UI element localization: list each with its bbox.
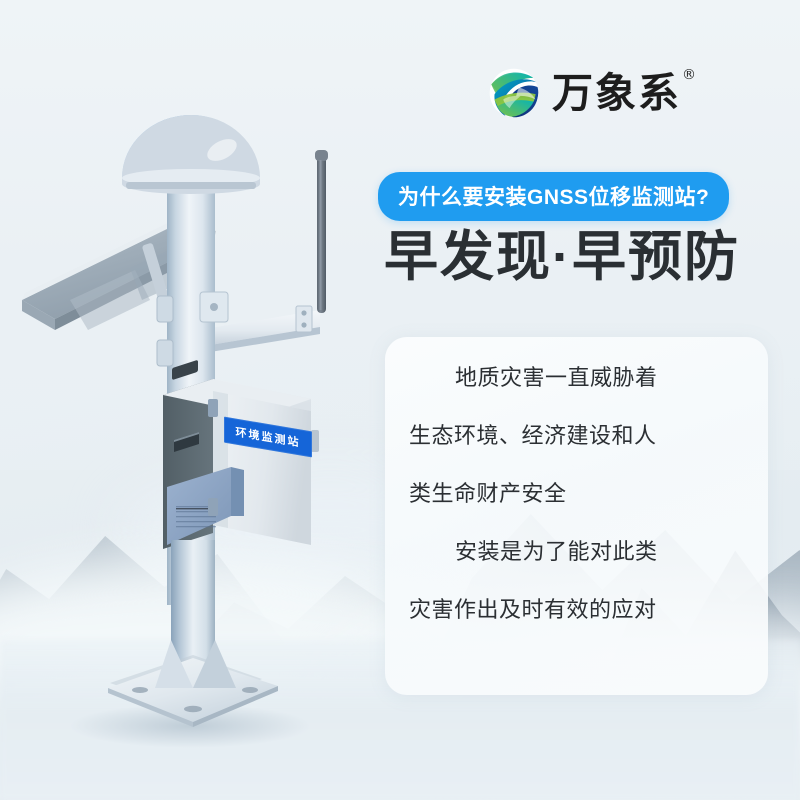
gnss-antenna-dome (122, 115, 260, 194)
description-line-2: 生态环境、经济建设和人 (409, 425, 744, 447)
brand-logo: 万象系® (487, 66, 681, 120)
promo-banner: 环境监测站 (0, 0, 800, 800)
trademark-symbol: ® (682, 68, 698, 82)
description-line-1: 地质灾害一直威胁着 (409, 367, 744, 389)
description-line-4: 安装是为了能对此类 (409, 541, 744, 563)
brand-name: 万象系® (552, 73, 681, 114)
swirl-globe-icon (487, 66, 541, 120)
description-card: 地质灾害一直威胁着 生态环境、经济建设和人 类生命财产安全 安装是为了能对此类 … (385, 337, 768, 695)
description-line-3: 类生命财产安全 (409, 483, 744, 505)
antenna-rod (315, 150, 328, 313)
question-badge[interactable]: 为什么要安装GNSS位移监测站? (378, 172, 729, 221)
monitoring-station-illustration (0, 0, 400, 800)
brand-name-text: 万象系 (552, 69, 681, 117)
description-line-5: 灾害作出及时有效的应对 (409, 599, 744, 621)
page-title: 早发现·早预防 (384, 226, 740, 288)
